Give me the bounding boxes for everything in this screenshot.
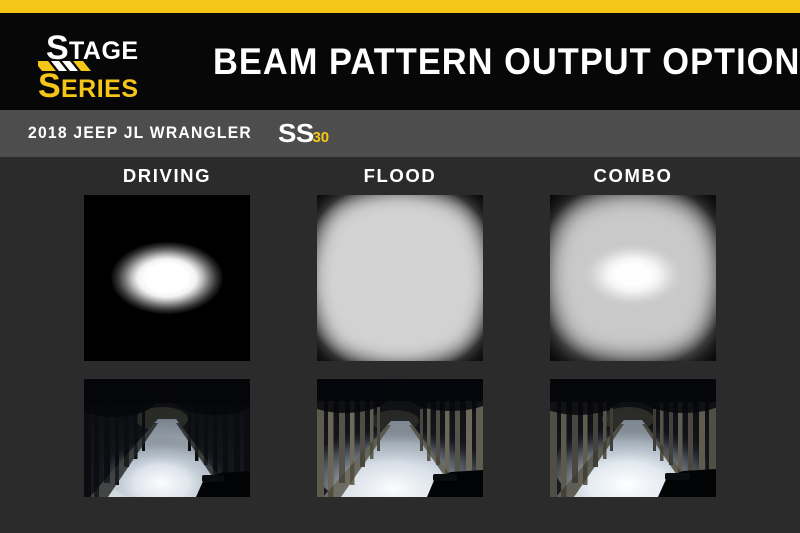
stage-series-logo: S TAGE S ERIES xyxy=(38,13,188,110)
beam-gradient-combo-hotspot xyxy=(550,195,716,361)
road-scene-flood xyxy=(317,379,483,497)
column-header-combo: COMBO xyxy=(550,157,716,195)
page-title: BEAM PATTERN OUTPUT OPTIONS xyxy=(213,13,748,110)
column-combo: COMBO xyxy=(550,157,716,533)
logo-artwork: S TAGE S ERIES xyxy=(38,13,188,110)
beam-pattern-flood xyxy=(317,195,483,361)
model-badge: SS30 xyxy=(278,118,329,149)
beam-pattern-driving xyxy=(84,195,250,361)
spacer xyxy=(317,361,483,379)
road-photo-driving xyxy=(84,379,250,497)
vehicle-name: 2018 JEEP JL WRANGLER xyxy=(28,124,252,143)
model-number: 30 xyxy=(312,129,329,146)
road-scene-combo xyxy=(550,379,716,497)
beam-pattern-combo xyxy=(550,195,716,361)
top-accent-stripe xyxy=(0,0,800,13)
spacer xyxy=(84,361,250,379)
beam-gradient-driving xyxy=(84,195,250,361)
beam-comparison-columns: DRIVING xyxy=(0,157,800,533)
road-photo-flood xyxy=(317,379,483,497)
beam-pattern-infographic: S TAGE S ERIES BEAM PATTERN OUTPUT OPTIO… xyxy=(0,0,800,533)
spacer xyxy=(550,361,716,379)
svg-text:ERIES: ERIES xyxy=(61,75,139,103)
svg-text:TAGE: TAGE xyxy=(69,37,139,65)
vehicle-subtitle-band: 2018 JEEP JL WRANGLER SS30 xyxy=(0,110,800,157)
column-flood: FLOOD xyxy=(317,157,483,533)
svg-text:S: S xyxy=(38,67,61,105)
road-scene-driving xyxy=(84,379,250,497)
column-header-flood: FLOOD xyxy=(317,157,483,195)
road-photo-combo xyxy=(550,379,716,497)
column-header-driving: DRIVING xyxy=(84,157,250,195)
column-driving: DRIVING xyxy=(84,157,250,533)
model-prefix: SS xyxy=(278,118,314,149)
beam-gradient-flood xyxy=(317,195,483,361)
